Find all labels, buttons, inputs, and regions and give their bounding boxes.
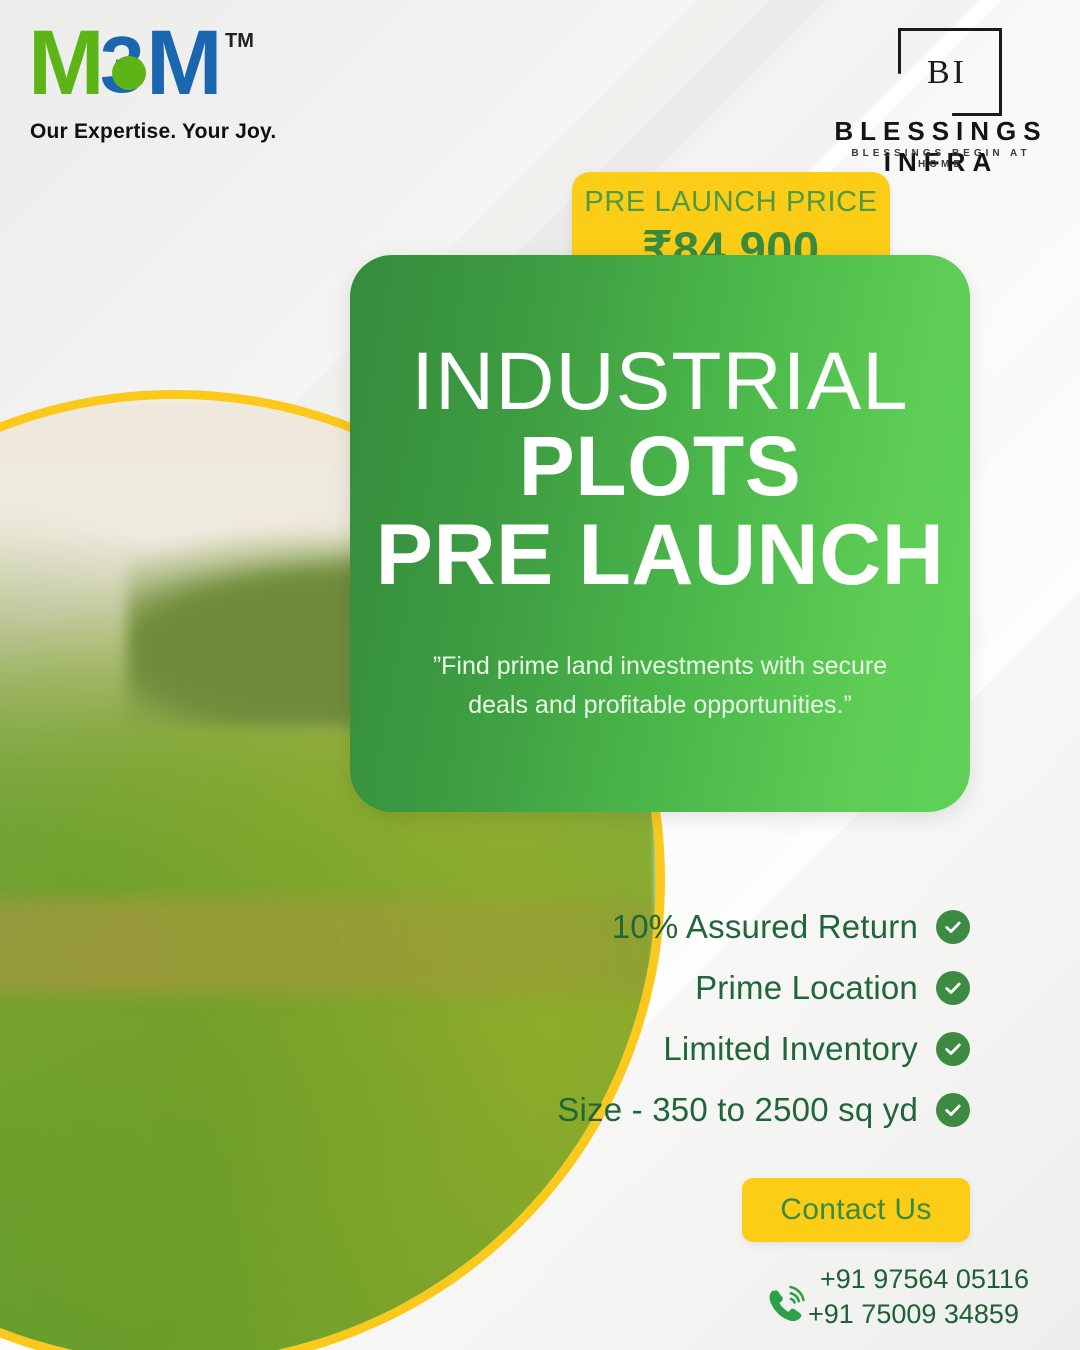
headline-line-3: PRE LAUNCH <box>350 511 970 600</box>
m3m-wordmark: M 3 M TM <box>28 26 243 104</box>
feature-label: Prime Location <box>695 969 918 1007</box>
m3m-letter-m-right: M <box>146 26 219 101</box>
phone-contact-block[interactable]: +91 97564 05116 +91 75009 34859 <box>760 1262 1010 1347</box>
phone-number-1[interactable]: +91 97564 05116 <box>820 1262 1029 1297</box>
headline-line-1: INDUSTRIAL <box>350 343 970 422</box>
check-circle-icon <box>936 1093 970 1127</box>
check-circle-icon <box>936 971 970 1005</box>
price-label: PRE LAUNCH PRICE <box>584 188 877 217</box>
headline-panel: INDUSTRIAL PLOTS PRE LAUNCH ”Find prime … <box>350 255 970 812</box>
headline-line-2: PLOTS <box>350 422 970 511</box>
feature-item: Limited Inventory <box>410 1018 970 1079</box>
check-circle-icon <box>936 1032 970 1066</box>
bi-company-tagline: BLESSINGS BEGIN AT HOME <box>828 148 1054 170</box>
feature-label: 10% Assured Return <box>612 908 918 946</box>
m3m-logo: M 3 M TM Our Expertise. Your Joy. <box>28 26 288 146</box>
m3m-tagline: Our Expertise. Your Joy. <box>30 120 276 144</box>
phone-call-icon <box>760 1278 812 1330</box>
feature-item: Prime Location <box>410 957 970 1018</box>
contact-us-label: Contact Us <box>780 1193 931 1227</box>
feature-item: Size - 350 to 2500 sq yd <box>410 1079 970 1140</box>
phone-numbers: +91 97564 05116 +91 75009 34859 <box>820 1262 1029 1347</box>
features-list: 10% Assured Return Prime Location Limite… <box>410 896 970 1140</box>
check-circle-icon <box>936 910 970 944</box>
feature-label: Size - 350 to 2500 sq yd <box>557 1091 918 1129</box>
m3m-letter-m-left: M <box>28 26 101 101</box>
contact-us-button[interactable]: Contact Us <box>742 1178 970 1242</box>
blessings-infra-logo: BI BLESSINGS INFRA BLESSINGS BEGIN AT HO… <box>828 28 1054 146</box>
promo-poster: M 3 M TM Our Expertise. Your Joy. BI BLE… <box>0 0 1080 1350</box>
bi-monogram: BI <box>898 54 996 92</box>
feature-label: Limited Inventory <box>663 1030 918 1068</box>
feature-item: 10% Assured Return <box>410 896 970 957</box>
m3m-digit-inner-circle <box>112 56 146 90</box>
headline-quote: ”Find prime land investments with secure… <box>406 647 914 725</box>
trademark-icon: TM <box>225 30 254 53</box>
headline-group: INDUSTRIAL PLOTS PRE LAUNCH <box>350 343 970 600</box>
phone-number-2[interactable]: +91 75009 34859 <box>808 1297 874 1347</box>
hand-holding-pin <box>0 854 54 1350</box>
